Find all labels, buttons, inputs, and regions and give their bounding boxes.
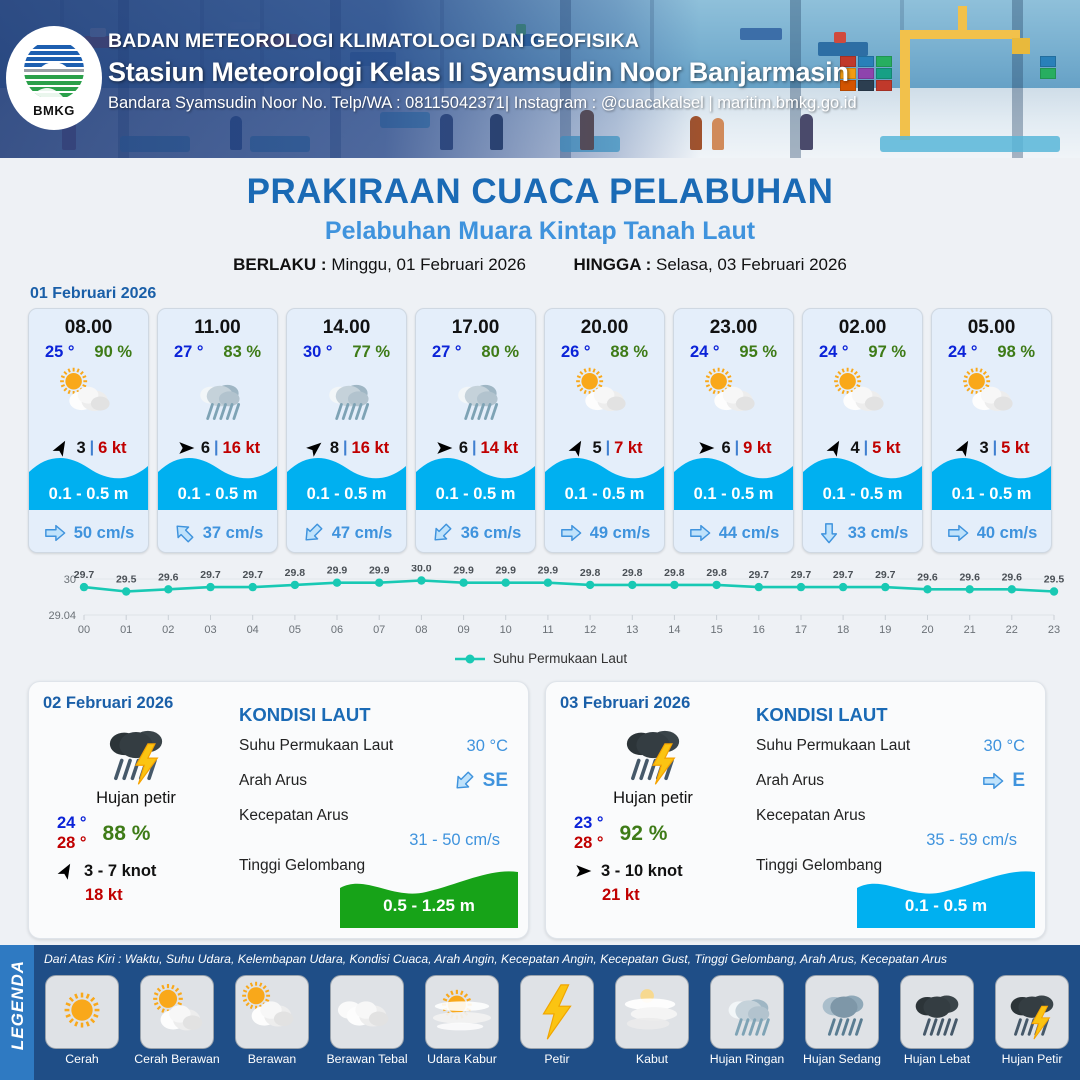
hourly-forecast-row: 08.0025 °90 %3|6 kt0.1 - 0.5 m50 cm/s11.… [0, 308, 1080, 553]
svg-text:29.7: 29.7 [875, 569, 896, 581]
legend-tab-label: LEGENDA [8, 955, 28, 1055]
svg-text:03: 03 [204, 624, 216, 636]
legend-item: Kabut [608, 975, 696, 1075]
svg-text:29.7: 29.7 [791, 569, 812, 581]
svg-text:09: 09 [457, 624, 469, 636]
hourly-card: 23.0024 °95 %6|9 kt0.1 - 0.5 m44 cm/s [673, 308, 794, 553]
legend-bar: LEGENDA Dari Atas Kiri : Waktu, Suhu Uda… [0, 945, 1080, 1080]
current-direction-arrow-icon [452, 770, 476, 792]
legend-item-label: Cerah Berawan [134, 1052, 219, 1066]
card-temperature: 25 ° [45, 343, 75, 362]
svg-text:29.7: 29.7 [242, 569, 263, 581]
weather-berawan-icon [803, 366, 922, 428]
svg-text:30.0: 30.0 [411, 565, 432, 575]
legend-item: Berawan Tebal [323, 975, 411, 1075]
card-humidity: 80 % [481, 343, 519, 362]
card-time: 20.00 [545, 317, 664, 339]
svg-text:29.9: 29.9 [369, 565, 390, 577]
card-humidity: 90 % [94, 343, 132, 362]
legend-item-label: Kabut [636, 1052, 668, 1066]
svg-text:29.7: 29.7 [749, 569, 770, 581]
svg-text:08: 08 [415, 624, 427, 636]
card-current-speed: 49 cm/s [590, 524, 651, 543]
current-direction-arrow-icon [817, 522, 841, 544]
weather-hujan-ringan-icon [287, 366, 406, 428]
sst-label: Suhu Permukaan Laut [756, 737, 910, 754]
card-wave-height: 0.1 - 0.5 m [932, 485, 1051, 504]
weather-kabut-icon [615, 975, 689, 1049]
legend-item-label: Hujan Petir [1002, 1052, 1063, 1066]
legend-items: CerahCerah BerawanBerawanBerawan TebalUd… [38, 975, 1076, 1075]
daily-forecast-row: 02 Februari 2026Hujan petir24 °28 °88 %3… [0, 675, 1080, 939]
sst-chart: 3029.0429.70029.50129.60229.70329.70429.… [14, 565, 1066, 675]
panel-condition: Hujan petir [43, 789, 229, 808]
card-current-speed: 44 cm/s [719, 524, 780, 543]
svg-text:29.7: 29.7 [74, 569, 95, 581]
page-title: PRAKIRAAN CUACA PELABUHAN [0, 172, 1080, 212]
svg-text:29.8: 29.8 [622, 567, 643, 579]
svg-text:29.04: 29.04 [48, 610, 76, 622]
panel-gust: 18 kt [43, 886, 229, 905]
svg-text:29.8: 29.8 [706, 567, 727, 579]
valid-from-label: BERLAKU : [233, 255, 327, 274]
card-humidity: 77 % [352, 343, 390, 362]
weather-hujan-petir-icon [995, 975, 1069, 1049]
card-time: 11.00 [158, 317, 277, 339]
svg-text:21: 21 [964, 624, 976, 636]
valid-from-value: Minggu, 01 Februari 2026 [331, 255, 526, 274]
card-time: 08.00 [29, 317, 148, 339]
hourly-card: 05.0024 °98 %3|5 kt0.1 - 0.5 m40 cm/s [931, 308, 1052, 553]
panel-gust: 21 kt [560, 886, 746, 905]
legend-item-label: Petir [544, 1052, 569, 1066]
agency-name: BADAN METEOROLOGI KLIMATOLOGI DAN GEOFIS… [108, 30, 857, 53]
weather-hujan-petir-icon [560, 715, 746, 787]
current-direction-arrow-icon [946, 522, 970, 544]
card-wave-height: 0.1 - 0.5 m [803, 485, 922, 504]
legend-item: Hujan Sedang [798, 975, 886, 1075]
current-direction-arrow-icon [981, 770, 1005, 792]
svg-text:15: 15 [710, 624, 722, 636]
validity-range: BERLAKU : Minggu, 01 Februari 2026 HINGG… [0, 255, 1080, 275]
card-wave-height: 0.1 - 0.5 m [287, 485, 406, 504]
valid-until-label: HINGGA : [573, 255, 651, 274]
legend-item: Hujan Ringan [703, 975, 791, 1075]
weather-berawan-icon [932, 366, 1051, 428]
hourly-card: 11.0027 °83 %6|16 kt0.1 - 0.5 m37 cm/s [157, 308, 278, 553]
svg-text:29.9: 29.9 [495, 565, 516, 577]
svg-text:29.5: 29.5 [1044, 574, 1065, 586]
card-time: 05.00 [932, 317, 1051, 339]
weather-hujan-ringan-icon [710, 975, 784, 1049]
svg-text:12: 12 [584, 624, 596, 636]
card-wave-height: 0.1 - 0.5 m [158, 485, 277, 504]
current-direction-arrow-icon [172, 522, 196, 544]
svg-text:01: 01 [120, 624, 132, 636]
legend-tab: LEGENDA [0, 945, 34, 1080]
svg-text:29.9: 29.9 [453, 565, 474, 577]
current-direction-arrow-icon [688, 522, 712, 544]
weather-hujan-ringan-icon [416, 366, 535, 428]
weather-hujan-ringan-icon [158, 366, 277, 428]
wave-graphic: 0.5 - 1.25 m [340, 866, 518, 928]
panel-date: 02 Februari 2026 [43, 694, 229, 713]
current-speed-label: Kecepatan Arus [239, 807, 348, 824]
weather-berawan-icon [29, 366, 148, 428]
sea-conditions-title: KONDISI LAUT [239, 704, 514, 726]
legend-item-label: Udara Kabur [427, 1052, 497, 1066]
weather-berawan-tebal-icon [330, 975, 404, 1049]
legend-item-label: Hujan Lebat [904, 1052, 970, 1066]
card-wave-height: 0.1 - 0.5 m [545, 485, 664, 504]
card-time: 17.00 [416, 317, 535, 339]
svg-text:29.5: 29.5 [116, 574, 137, 586]
card-humidity: 98 % [997, 343, 1035, 362]
weather-petir-icon [520, 975, 594, 1049]
legend-item-label: Hujan Ringan [710, 1052, 785, 1066]
svg-text:29.7: 29.7 [200, 569, 221, 581]
legend-item: Hujan Lebat [893, 975, 981, 1075]
svg-text:18: 18 [837, 624, 849, 636]
bmkg-emblem-icon [23, 39, 85, 101]
weather-berawan-icon [235, 975, 309, 1049]
svg-text:29.8: 29.8 [580, 567, 601, 579]
card-current-speed: 47 cm/s [332, 524, 393, 543]
hourly-card: 02.0024 °97 %4|5 kt0.1 - 0.5 m33 cm/s [802, 308, 923, 553]
card-time: 14.00 [287, 317, 406, 339]
svg-text:29.6: 29.6 [158, 571, 179, 583]
legend-note: Dari Atas Kiri : Waktu, Suhu Udara, Kele… [44, 952, 1074, 966]
panel-temp-min: 24 ° [57, 814, 87, 833]
station-name: Stasiun Meteorologi Kelas II Syamsudin N… [108, 57, 857, 88]
hourly-day-label: 01 Februari 2026 [30, 285, 1080, 303]
svg-text:29.6: 29.6 [917, 571, 938, 583]
current-direction-label: Arah Arus [239, 772, 307, 789]
current-speed-value: 31 - 50 cm/s [409, 831, 500, 850]
card-wave-height: 0.1 - 0.5 m [29, 485, 148, 504]
weather-udara-kabur-icon [425, 975, 499, 1049]
svg-text:29.8: 29.8 [664, 567, 685, 579]
legend-item-label: Berawan Tebal [326, 1052, 407, 1066]
weather-hujan-petir-icon [43, 715, 229, 787]
svg-text:23: 23 [1048, 624, 1060, 636]
weather-hujan-lebat-icon [900, 975, 974, 1049]
title-section: PRAKIRAAN CUACA PELABUHAN Pelabuhan Muar… [0, 172, 1080, 275]
daily-panel: 02 Februari 2026Hujan petir24 °28 °88 %3… [28, 681, 529, 939]
hourly-card: 14.0030 °77 %8|16 kt0.1 - 0.5 m47 cm/s [286, 308, 407, 553]
card-humidity: 83 % [223, 343, 261, 362]
svg-text:02: 02 [162, 624, 174, 636]
card-humidity: 97 % [868, 343, 906, 362]
daily-panel: 03 Februari 2026Hujan petir23 °28 °92 %3… [545, 681, 1046, 939]
panel-date: 03 Februari 2026 [560, 694, 746, 713]
sst-value: 30 °C [984, 737, 1025, 756]
card-time: 23.00 [674, 317, 793, 339]
card-temperature: 24 ° [690, 343, 720, 362]
svg-text:29.6: 29.6 [1002, 571, 1023, 583]
svg-text:19: 19 [879, 624, 891, 636]
bmkg-logo: BMKG [6, 26, 102, 130]
valid-until-value: Selasa, 03 Februari 2026 [656, 255, 847, 274]
header-text-block: BADAN METEOROLOGI KLIMATOLOGI DAN GEOFIS… [108, 30, 857, 113]
chart-legend-marker-icon [453, 653, 487, 665]
wind-direction-arrow-icon [572, 861, 594, 881]
sst-label: Suhu Permukaan Laut [239, 737, 393, 754]
svg-text:20: 20 [921, 624, 933, 636]
sea-conditions-title: KONDISI LAUT [756, 704, 1031, 726]
card-current-speed: 40 cm/s [977, 524, 1038, 543]
card-current-speed: 37 cm/s [203, 524, 264, 543]
panel-condition: Hujan petir [560, 789, 746, 808]
hourly-card: 17.0027 °80 %6|14 kt0.1 - 0.5 m36 cm/s [415, 308, 536, 553]
svg-text:16: 16 [753, 624, 765, 636]
current-speed-value: 35 - 59 cm/s [926, 831, 1017, 850]
hourly-card: 20.0026 °88 %5|7 kt0.1 - 0.5 m49 cm/s [544, 308, 665, 553]
legend-item: Udara Kabur [418, 975, 506, 1075]
svg-text:14: 14 [668, 624, 680, 636]
svg-text:17: 17 [795, 624, 807, 636]
card-temperature: 26 ° [561, 343, 591, 362]
svg-text:04: 04 [247, 624, 259, 636]
svg-text:29.9: 29.9 [327, 565, 348, 577]
wave-height-value: 0.1 - 0.5 m [857, 896, 1035, 916]
card-wave-height: 0.1 - 0.5 m [416, 485, 535, 504]
legend-item-label: Hujan Sedang [803, 1052, 881, 1066]
legend-item: Hujan Petir [988, 975, 1076, 1075]
svg-text:10: 10 [500, 624, 512, 636]
weather-hujan-sedang-icon [805, 975, 879, 1049]
svg-text:29.6: 29.6 [959, 571, 980, 583]
wave-graphic: 0.1 - 0.5 m [857, 866, 1035, 928]
sst-value: 30 °C [467, 737, 508, 756]
card-current-speed: 36 cm/s [461, 524, 522, 543]
weather-cerah-berawan-icon [140, 975, 214, 1049]
wave-height-value: 0.5 - 1.25 m [340, 896, 518, 916]
bmkg-logo-text: BMKG [33, 103, 75, 118]
svg-text:00: 00 [78, 624, 90, 636]
weather-berawan-icon [545, 366, 664, 428]
legend-item: Berawan [228, 975, 316, 1075]
card-current-speed: 50 cm/s [74, 524, 135, 543]
svg-text:11: 11 [542, 624, 553, 636]
svg-text:07: 07 [373, 624, 385, 636]
card-temperature: 30 ° [303, 343, 333, 362]
panel-humidity: 92 % [620, 822, 668, 846]
legend-item: Petir [513, 975, 601, 1075]
chart-legend-label: Suhu Permukaan Laut [493, 651, 627, 666]
current-direction-label: Arah Arus [756, 772, 824, 789]
svg-text:29.7: 29.7 [833, 569, 854, 581]
weather-cerah-icon [45, 975, 119, 1049]
panel-temp-max: 28 ° [57, 834, 87, 853]
card-temperature: 24 ° [948, 343, 978, 362]
svg-text:29.9: 29.9 [538, 565, 559, 577]
panel-wind: 3 - 7 knot [84, 862, 156, 881]
svg-text:05: 05 [289, 624, 301, 636]
weather-berawan-icon [674, 366, 793, 428]
panel-wind: 3 - 10 knot [601, 862, 683, 881]
contact-line: Bandara Syamsudin Noor No. Telp/WA : 081… [108, 94, 857, 113]
card-humidity: 88 % [610, 343, 648, 362]
hourly-card: 08.0025 °90 %3|6 kt0.1 - 0.5 m50 cm/s [28, 308, 149, 553]
card-time: 02.00 [803, 317, 922, 339]
panel-temp-max: 28 ° [574, 834, 604, 853]
card-temperature: 24 ° [819, 343, 849, 362]
panel-humidity: 88 % [103, 822, 151, 846]
current-direction-value: E [1012, 770, 1025, 792]
current-speed-label: Kecepatan Arus [756, 807, 865, 824]
svg-text:06: 06 [331, 624, 343, 636]
svg-text:13: 13 [626, 624, 638, 636]
current-direction-arrow-icon [43, 522, 67, 544]
svg-text:22: 22 [1006, 624, 1018, 636]
current-direction-arrow-icon [430, 522, 454, 544]
header-banner: BMKG BADAN METEOROLOGI KLIMATOLOGI DAN G… [0, 0, 1080, 158]
legend-item-label: Berawan [248, 1052, 297, 1066]
page-subtitle: Pelabuhan Muara Kintap Tanah Laut [0, 217, 1080, 246]
legend-item-label: Cerah [65, 1052, 99, 1066]
svg-text:29.8: 29.8 [285, 567, 306, 579]
chart-legend: Suhu Permukaan Laut [14, 651, 1066, 666]
legend-item: Cerah Berawan [133, 975, 221, 1075]
card-wave-height: 0.1 - 0.5 m [674, 485, 793, 504]
card-humidity: 95 % [739, 343, 777, 362]
card-temperature: 27 ° [174, 343, 204, 362]
wind-direction-arrow-icon [55, 861, 77, 881]
panel-temp-min: 23 ° [574, 814, 604, 833]
current-direction-arrow-icon [559, 522, 583, 544]
legend-item: Cerah [38, 975, 126, 1075]
forecast-poster: BMKG BADAN METEOROLOGI KLIMATOLOGI DAN G… [0, 0, 1080, 1080]
current-direction-value: SE [483, 770, 508, 792]
card-temperature: 27 ° [432, 343, 462, 362]
card-current-speed: 33 cm/s [848, 524, 909, 543]
current-direction-arrow-icon [301, 522, 325, 544]
